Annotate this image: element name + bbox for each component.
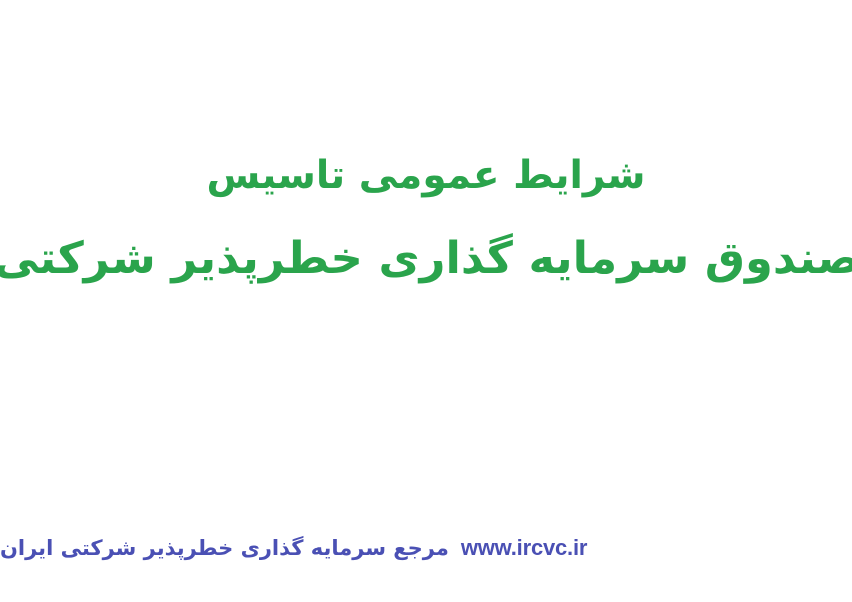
page-title-line-1: شرایط عمومی تاسیس [0, 150, 852, 202]
slide-canvas: شرایط عمومی تاسیس صندوق سرمایه گذاری خطر… [0, 0, 852, 602]
footer-bar: مرجع سرمایه گذاری خطرپذیر شرکتی ایران ww… [0, 526, 852, 570]
footer-website-url[interactable]: www.ircvc.ir [461, 533, 587, 563]
footer-tagline: مرجع سرمایه گذاری خطرپذیر شرکتی ایران [0, 533, 449, 563]
page-title-line-2: صندوق سرمایه گذاری خطرپذیر شرکتیCVC [0, 230, 852, 288]
title-block: شرایط عمومی تاسیس صندوق سرمایه گذاری خطر… [0, 150, 852, 288]
page-title-line-2-persian: صندوق سرمایه گذاری خطرپذیر شرکتی [0, 233, 852, 284]
